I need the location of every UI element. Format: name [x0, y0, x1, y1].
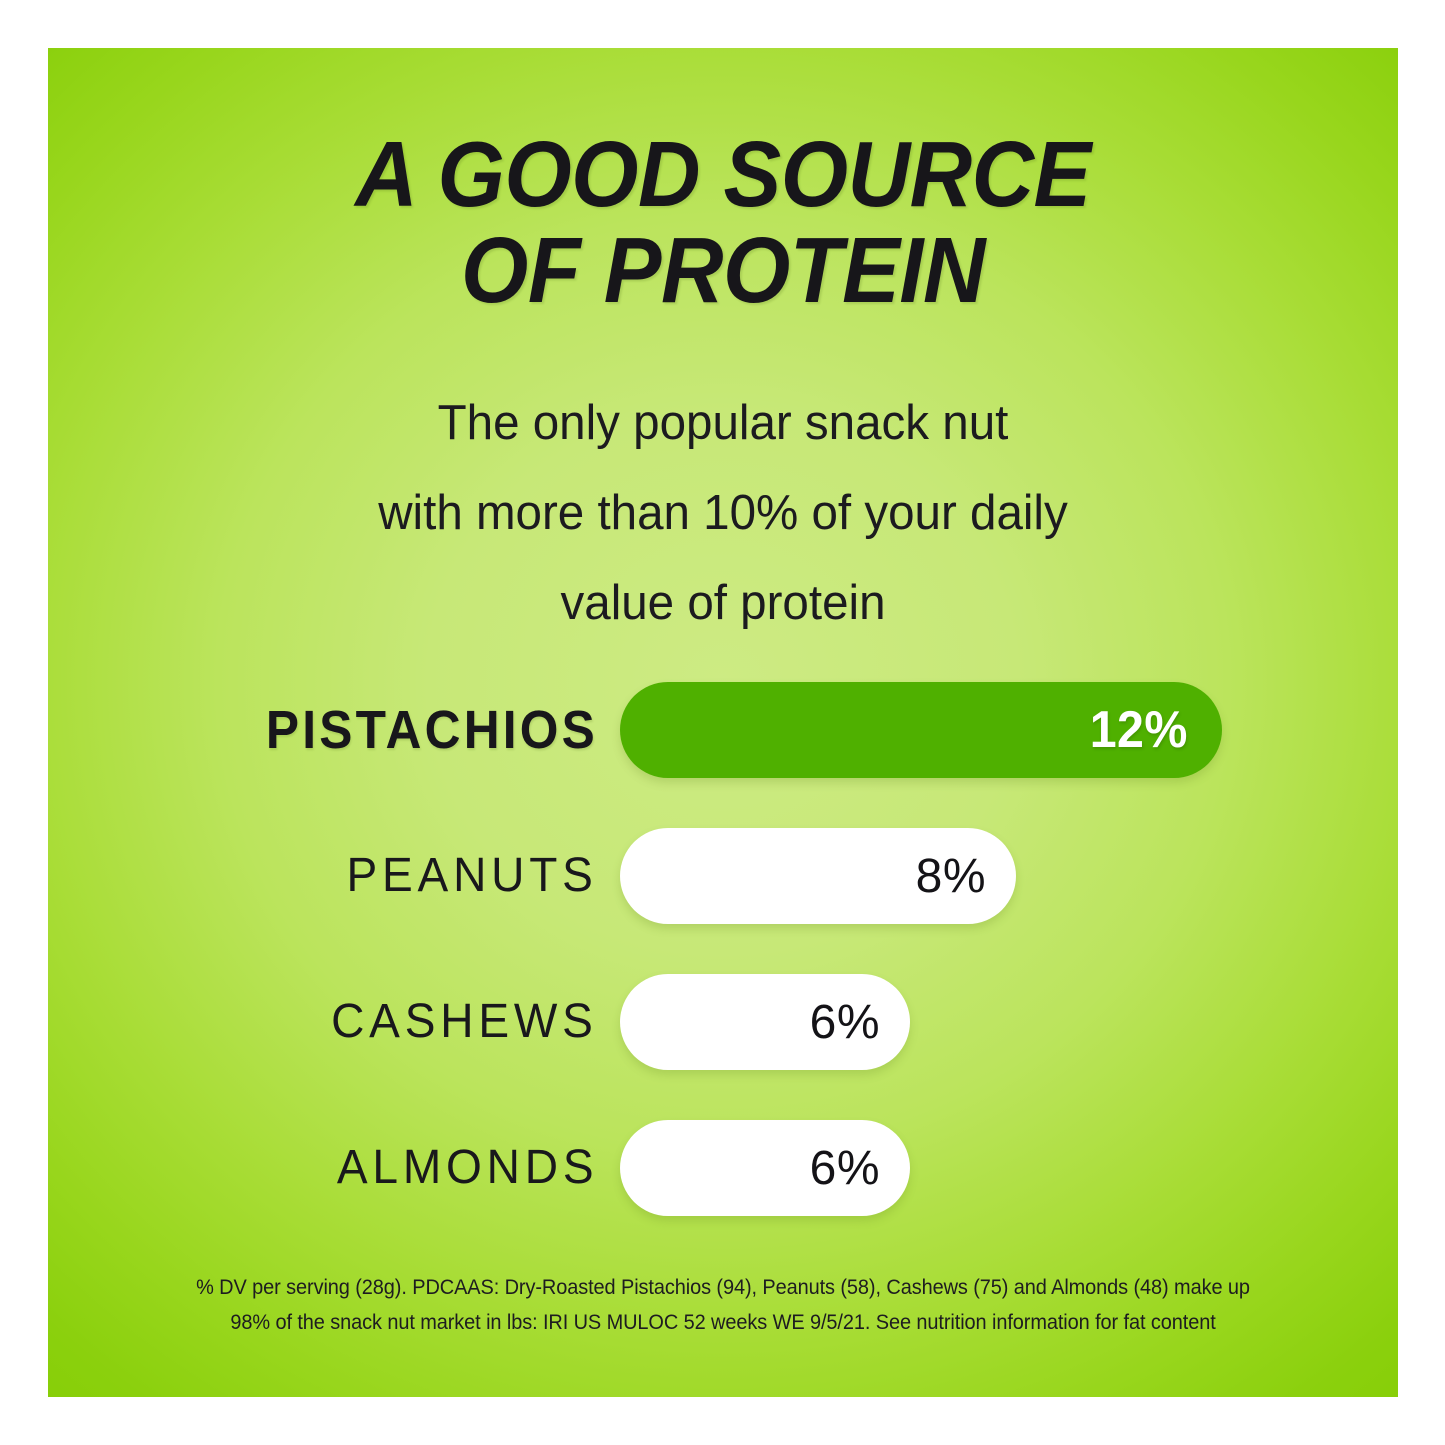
green-panel: A GOOD SOURCE OF PROTEIN The only popula… [48, 48, 1398, 1397]
bar-label-cashews: CASHEWS [331, 974, 598, 1070]
bar-label-almonds: ALMONDS [337, 1120, 598, 1216]
bar-peanuts: 8% [620, 828, 1016, 924]
protein-bar-chart: PISTACHIOS 12% PEANUTS 8% CASHEWS 6% [48, 48, 1398, 1397]
footnote: % DV per serving (28g). PDCAAS: Dry-Roas… [82, 1270, 1365, 1340]
chart-row-almonds: ALMONDS 6% [48, 1120, 1398, 1216]
chart-row-peanuts: PEANUTS 8% [48, 828, 1398, 924]
bar-pistachios: 12% [620, 682, 1222, 778]
bar-value-almonds: 6% [810, 1141, 880, 1196]
protein-infographic: A GOOD SOURCE OF PROTEIN The only popula… [0, 0, 1445, 1445]
bar-value-cashews: 6% [810, 995, 880, 1050]
chart-row-cashews: CASHEWS 6% [48, 974, 1398, 1070]
bar-value-pistachios: 12% [1090, 700, 1188, 760]
bar-value-peanuts: 8% [916, 849, 986, 904]
footnote-line-1: % DV per serving (28g). PDCAAS: Dry-Roas… [82, 1270, 1365, 1305]
bar-almonds: 6% [620, 1120, 910, 1216]
footnote-line-2: 98% of the snack nut market in lbs: IRI … [82, 1305, 1365, 1340]
bar-label-peanuts: PEANUTS [347, 828, 598, 924]
bar-label-pistachios: PISTACHIOS [266, 682, 598, 778]
bar-cashews: 6% [620, 974, 910, 1070]
chart-row-pistachios: PISTACHIOS 12% [48, 682, 1398, 778]
